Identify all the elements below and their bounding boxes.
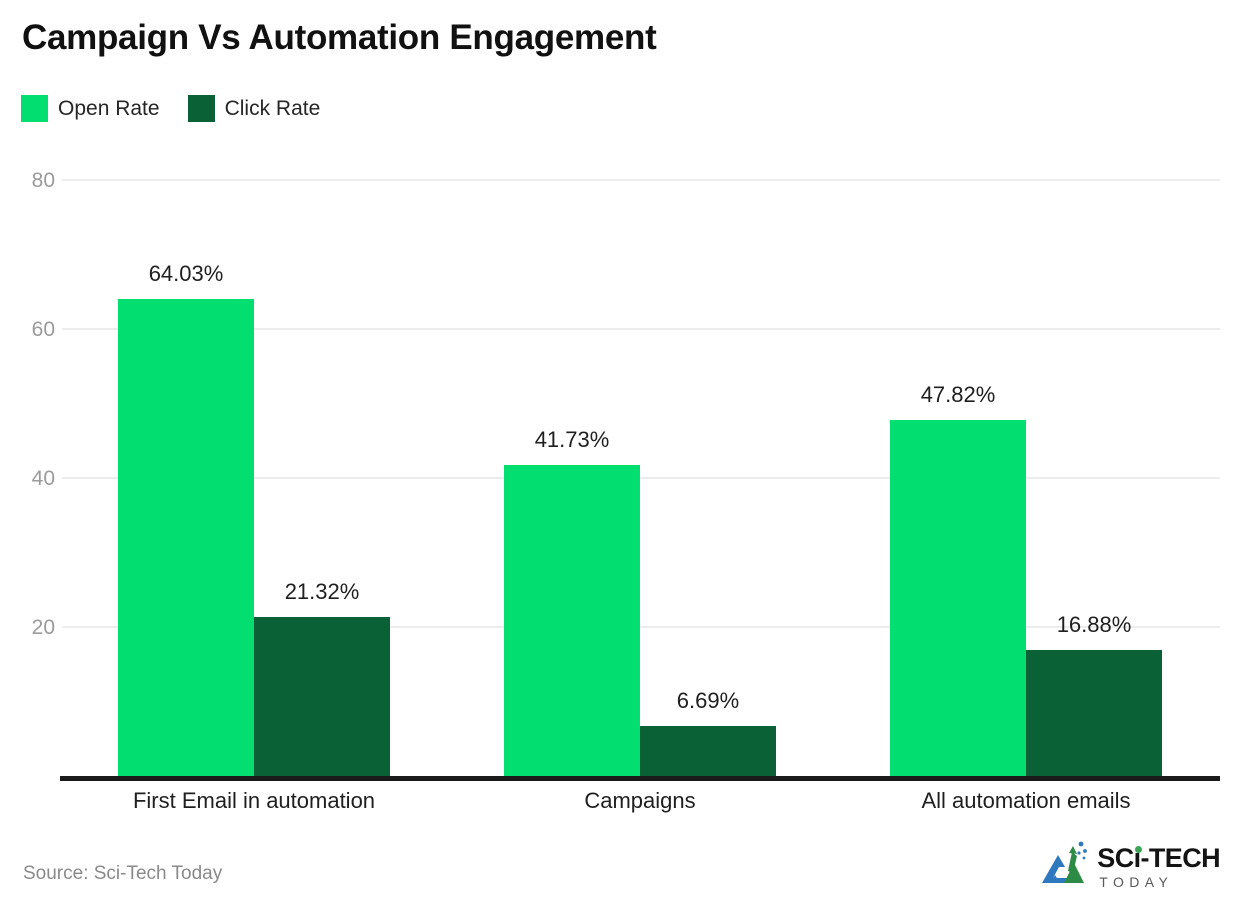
bar-value-label: 64.03% [118,263,254,285]
bar-click-rate[interactable] [640,726,776,776]
logo-word-sci-tech: SCi-TECH [1097,845,1220,872]
logo-word-today: TODAY [1099,875,1220,889]
x-axis-category-label: Campaigns [424,790,856,812]
bar-open-rate[interactable] [504,465,640,776]
sci-tech-today-mountain-logo-icon [1038,840,1090,893]
gridline [62,179,1220,181]
y-axis-tick-label: 60 [0,319,55,340]
x-axis-category-label: First Email in automation [38,790,470,812]
bar-click-rate[interactable] [254,617,390,776]
source-caption: Source: Sci-Tech Today [23,864,222,883]
bar-value-label: 41.73% [504,429,640,451]
y-axis-tick-label: 40 [0,468,55,489]
brand-logo[interactable]: SCi-TECH TODAY [1038,840,1220,893]
bar-value-label: 6.69% [640,690,776,712]
x-axis-line [60,776,1220,781]
bar-chart-plot-area: 8060402064.03%21.32%First Email in autom… [0,0,1240,910]
logo-green-dot-icon [1135,846,1142,853]
bar-value-label: 47.82% [890,384,1026,406]
bar-open-rate[interactable] [118,299,254,776]
bar-value-label: 21.32% [254,581,390,603]
logo-wordmark: SCi-TECH TODAY [1097,845,1220,889]
y-axis-tick-label: 20 [0,617,55,638]
bar-open-rate[interactable] [890,420,1026,776]
y-axis-tick-label: 80 [0,170,55,191]
bar-value-label: 16.88% [1026,614,1162,636]
x-axis-category-label: All automation emails [810,790,1240,812]
bar-click-rate[interactable] [1026,650,1162,776]
